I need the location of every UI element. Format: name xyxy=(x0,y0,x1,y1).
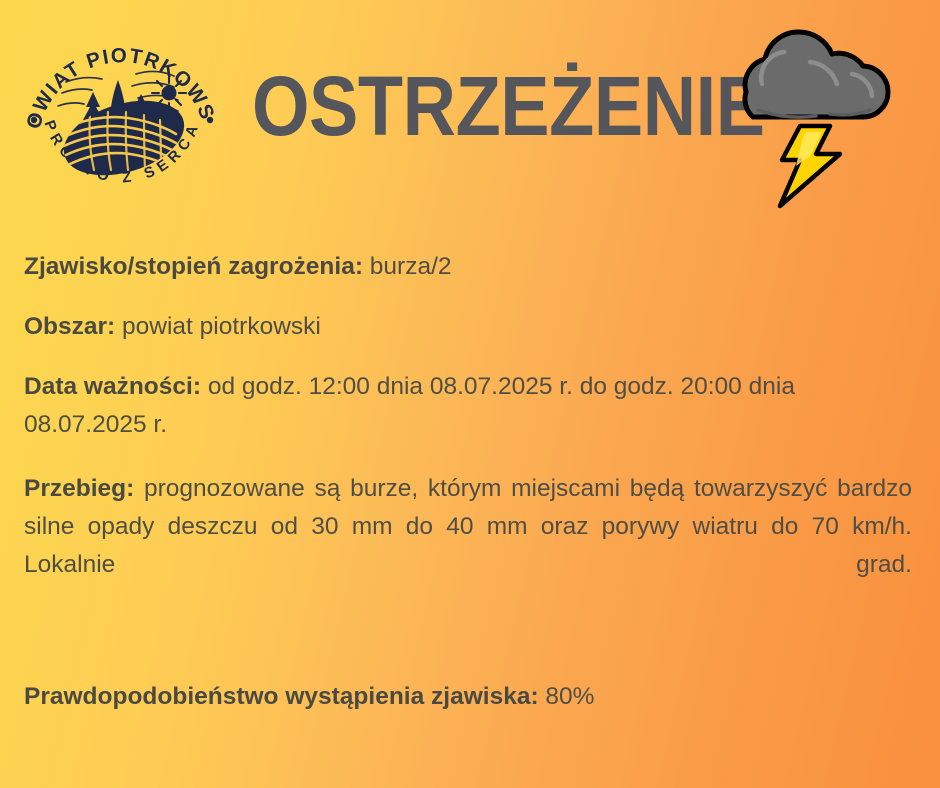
field-course: Przebieg: prognozowane są burze, którym … xyxy=(24,470,912,622)
warning-details: Zjawisko/stopień zagrożenia: burza/2 Obs… xyxy=(24,248,914,716)
field-validity-label: Data ważności: xyxy=(24,373,201,400)
poster-header: POWIAT PIOTRKOWSKI PROSTO Z SERCA xyxy=(0,0,940,225)
field-probability: Prawdopodobieństwo wystąpienia zjawiska:… xyxy=(24,678,914,716)
field-phenomenon-label: Zjawisko/stopień zagrożenia: xyxy=(24,253,363,280)
field-probability-label: Prawdopodobieństwo wystąpienia zjawiska: xyxy=(24,683,539,710)
page-title: OSTRZEŻENIE xyxy=(252,58,639,154)
field-phenomenon-value: burza/2 xyxy=(370,253,452,280)
field-area: Obszar: powiat piotrkowski xyxy=(24,308,914,346)
field-course-value: prognozowane są burze, którym miejscami … xyxy=(24,475,912,578)
field-course-label: Przebieg: xyxy=(24,475,134,502)
weather-warning-poster: POWIAT PIOTRKOWSKI PROSTO Z SERCA xyxy=(0,0,940,788)
field-area-label: Obszar: xyxy=(24,313,115,340)
powiat-piotrkowski-logo: POWIAT PIOTRKOWSKI PROSTO Z SERCA xyxy=(18,16,226,206)
field-probability-value: 80% xyxy=(545,683,594,710)
field-area-value: powiat piotrkowski xyxy=(122,313,321,340)
storm-cloud-lightning-icon xyxy=(706,14,906,209)
field-phenomenon: Zjawisko/stopień zagrożenia: burza/2 xyxy=(24,248,914,286)
field-validity: Data ważności: od godz. 12:00 dnia 08.07… xyxy=(24,368,900,444)
